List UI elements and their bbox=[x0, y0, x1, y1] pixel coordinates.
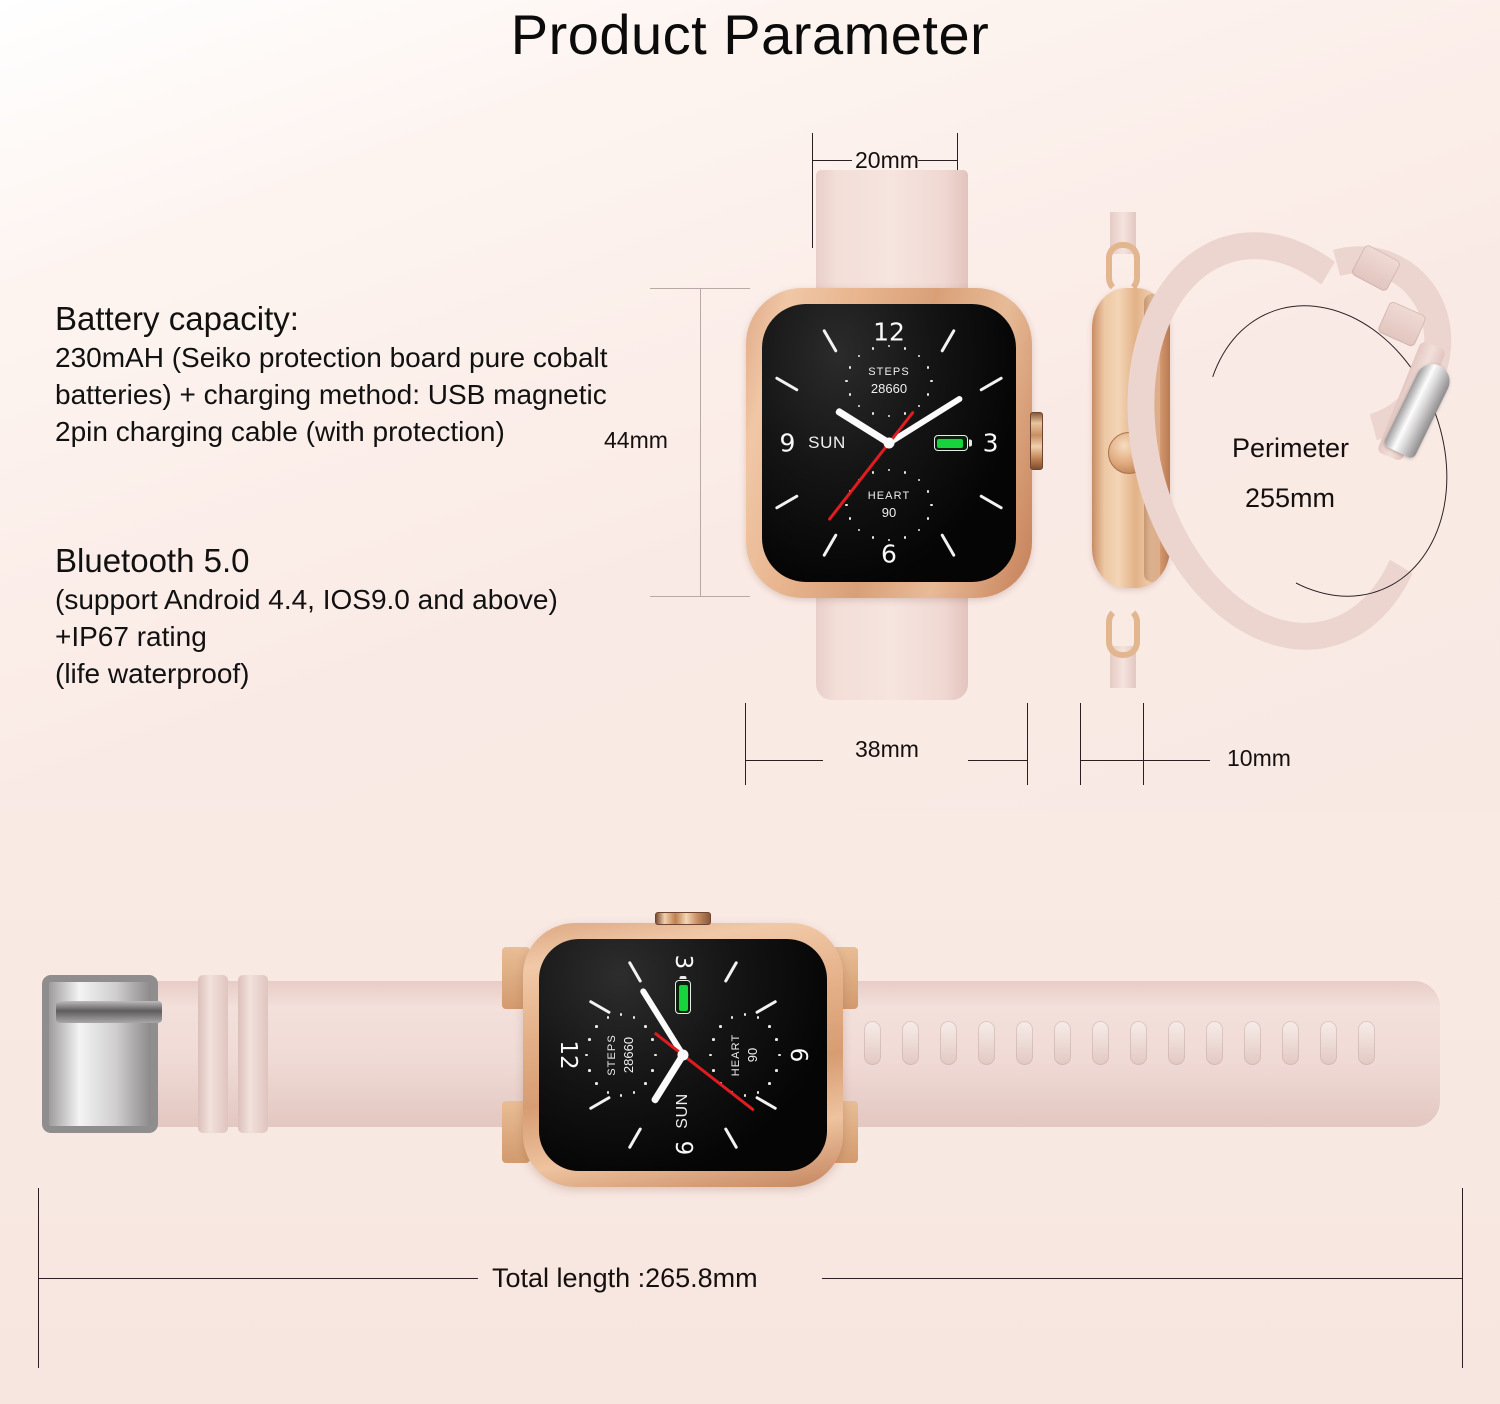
perimeter-label: Perimeter bbox=[1232, 433, 1349, 464]
dim-38mm-tick-right bbox=[1027, 703, 1028, 785]
weekday-indicator: SUN bbox=[808, 433, 846, 453]
hands-pivot bbox=[678, 1050, 689, 1061]
strap-hole bbox=[978, 1021, 995, 1065]
subdial-steps: STEPS28660 bbox=[841, 341, 937, 421]
flat-watch-case: 12369STEPS28660HEART90SUN bbox=[523, 923, 843, 1187]
watch-face: 12369STEPS28660HEART90SUN bbox=[762, 304, 1016, 582]
page-title: Product Parameter bbox=[0, 2, 1500, 67]
total-length-tick-right bbox=[1462, 1188, 1463, 1368]
flat-watch-screen: 12369STEPS28660HEART90SUN bbox=[539, 939, 827, 1171]
dim-10mm-arrow bbox=[1080, 760, 1210, 761]
subdial-dot-ring bbox=[582, 1009, 660, 1101]
subdial-heart: HEART90 bbox=[706, 1009, 784, 1101]
strap-hole bbox=[1130, 1021, 1147, 1065]
watch-flat-view: 12369STEPS28660HEART90SUN bbox=[30, 905, 1470, 1205]
face-tick bbox=[775, 494, 799, 510]
dim-20mm-arrow-right bbox=[918, 160, 958, 161]
subdial-dot-ring bbox=[841, 465, 937, 545]
dim-38mm-tick-left bbox=[745, 703, 746, 785]
watch-screen: 12369STEPS28660HEART90SUN bbox=[762, 304, 1016, 582]
strap-keeper-2 bbox=[238, 975, 268, 1133]
subdial-dot-ring bbox=[841, 341, 937, 421]
face-numeral-9: 9 bbox=[779, 429, 795, 458]
strap-hole bbox=[1206, 1021, 1223, 1065]
subdial-dot-ring bbox=[706, 1009, 784, 1101]
face-tick bbox=[940, 329, 956, 353]
perimeter-value: 255mm bbox=[1245, 483, 1335, 514]
strap-hole bbox=[1282, 1021, 1299, 1065]
face-tick bbox=[822, 533, 838, 557]
flat-strap-right bbox=[820, 981, 1440, 1127]
dim-38mm-arrow-right bbox=[968, 760, 1028, 761]
spec-block-battery: Battery capacity: 230mAH (Seiko protecti… bbox=[55, 298, 615, 451]
subdial-steps: STEPS28660 bbox=[582, 1009, 660, 1101]
strap-hole bbox=[1054, 1021, 1071, 1065]
face-numeral-9: 9 bbox=[670, 1140, 696, 1155]
watch-case: 12369STEPS28660HEART90SUN bbox=[746, 288, 1032, 598]
face-numeral-12: 12 bbox=[555, 1040, 581, 1069]
face-tick bbox=[724, 1127, 739, 1149]
total-length-arrow-right bbox=[822, 1278, 1462, 1279]
face-tick bbox=[979, 494, 1003, 510]
strap-hole bbox=[940, 1021, 957, 1065]
dim-label-case-height: 44mm bbox=[604, 427, 668, 454]
dim-44mm-line bbox=[700, 288, 701, 596]
spec-body-bluetooth: (support Android 4.4, IOS9.0 and above) … bbox=[55, 582, 575, 693]
face-tick bbox=[775, 376, 799, 392]
hands-pivot bbox=[884, 438, 895, 449]
watch-front-view: 12369STEPS28660HEART90SUN bbox=[742, 170, 1042, 700]
strap-hole bbox=[902, 1021, 919, 1065]
dim-10mm-tick-left bbox=[1080, 703, 1081, 785]
total-length-label: Total length :265.8mm bbox=[492, 1263, 758, 1294]
dim-44mm-tick-bottom bbox=[650, 596, 750, 597]
dim-label-case-width: 38mm bbox=[855, 736, 919, 763]
product-parameter-infographic: Product Parameter Battery capacity: 230m… bbox=[0, 0, 1500, 1404]
weekday-indicator: SUN bbox=[674, 1093, 692, 1129]
strap-hole bbox=[1358, 1021, 1375, 1065]
battery-full-icon bbox=[675, 980, 691, 1014]
face-tick bbox=[628, 1127, 643, 1149]
strap-top bbox=[816, 170, 968, 305]
dim-20mm-arrow-left bbox=[812, 160, 852, 161]
face-numeral-3: 3 bbox=[670, 955, 696, 970]
spec-heading-bluetooth: Bluetooth 5.0 bbox=[55, 540, 575, 582]
strap-hole bbox=[1168, 1021, 1185, 1065]
dim-38mm-arrow-left bbox=[745, 760, 823, 761]
spec-block-bluetooth: Bluetooth 5.0 (support Android 4.4, IOS9… bbox=[55, 540, 575, 693]
strap-bottom bbox=[816, 582, 968, 700]
subdial-heart: HEART90 bbox=[841, 465, 937, 545]
buckle-frame bbox=[42, 975, 158, 1133]
strap-hole bbox=[1016, 1021, 1033, 1065]
face-tick bbox=[822, 329, 838, 353]
buckle-tongue bbox=[56, 1001, 162, 1023]
face-tick bbox=[724, 961, 739, 983]
face-numeral-6: 6 bbox=[785, 1048, 811, 1063]
flat-watch-face: 12369STEPS28660HEART90SUN bbox=[539, 939, 827, 1171]
spec-body-battery: 230mAH (Seiko protection board pure coba… bbox=[55, 340, 615, 451]
strap-hole bbox=[864, 1021, 881, 1065]
face-tick bbox=[940, 533, 956, 557]
flat-strap-left bbox=[110, 981, 550, 1127]
strap-hole bbox=[1320, 1021, 1337, 1065]
crown-button[interactable] bbox=[1030, 412, 1043, 470]
strap-keeper-1 bbox=[198, 975, 228, 1133]
face-tick bbox=[628, 961, 643, 983]
strap-hole bbox=[1244, 1021, 1261, 1065]
spec-heading-battery: Battery capacity: bbox=[55, 298, 615, 340]
face-tick bbox=[979, 376, 1003, 392]
dim-10mm-tick-right bbox=[1143, 703, 1144, 785]
dim-44mm-tick-top bbox=[650, 288, 750, 289]
flat-crown-button[interactable] bbox=[655, 912, 711, 925]
face-numeral-3: 3 bbox=[983, 429, 999, 458]
total-length-arrow-left bbox=[38, 1278, 478, 1279]
battery-full-icon bbox=[934, 435, 968, 451]
strap-hole bbox=[1092, 1021, 1109, 1065]
dim-label-case-thickness: 10mm bbox=[1227, 745, 1291, 772]
